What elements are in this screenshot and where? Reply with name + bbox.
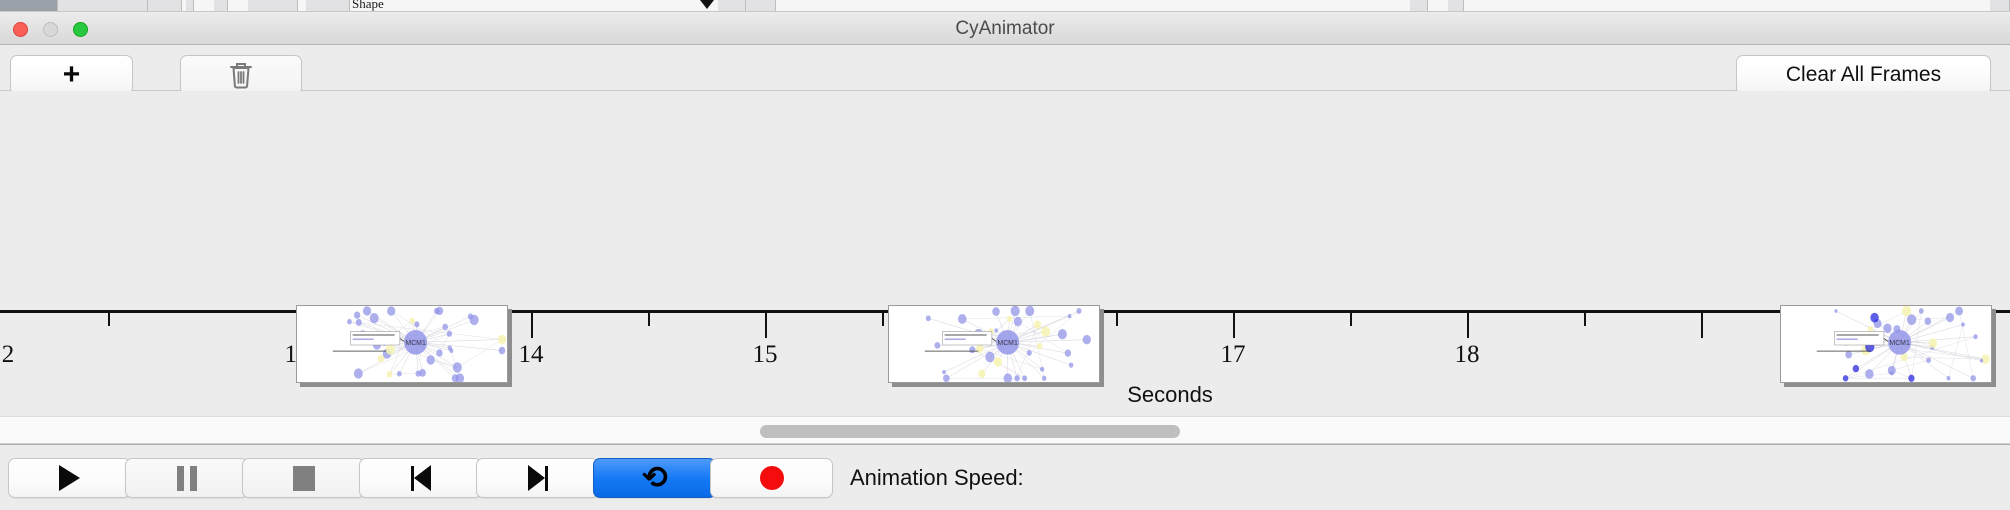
frame-thumbnail[interactable]: MCM1 bbox=[888, 305, 1100, 383]
network-graph: MCM1 bbox=[297, 306, 507, 383]
tick-minor bbox=[648, 313, 650, 326]
frame-thumbnail[interactable]: MCM1 bbox=[296, 305, 508, 383]
transport-bar: ⟳ Animation Speed: bbox=[0, 444, 2010, 510]
horizontal-scrollbar[interactable] bbox=[0, 416, 2010, 444]
add-frame-button[interactable]: + bbox=[10, 55, 133, 95]
loop-button[interactable]: ⟳ bbox=[593, 458, 716, 498]
network-graph: MCM1 bbox=[1781, 306, 1991, 383]
tick-minor bbox=[1350, 313, 1352, 326]
tick-label: 14 bbox=[519, 341, 544, 369]
bg-chip bbox=[306, 0, 350, 12]
play-icon bbox=[59, 465, 80, 491]
svg-text:MCM1: MCM1 bbox=[1889, 340, 1910, 347]
record-icon bbox=[760, 466, 784, 490]
bg-chip bbox=[746, 0, 776, 12]
tick-minor bbox=[1116, 313, 1118, 326]
animation-speed-label: Animation Speed: bbox=[850, 458, 1024, 498]
background-word: Shape bbox=[352, 0, 384, 12]
plus-icon: + bbox=[63, 60, 81, 90]
network-graph: MCM1 bbox=[889, 306, 1099, 383]
skip-forward-icon bbox=[528, 465, 548, 491]
prev-frame-button[interactable] bbox=[359, 458, 482, 498]
pause-icon bbox=[177, 466, 197, 491]
tick-minor bbox=[108, 313, 110, 326]
tick-major bbox=[765, 313, 767, 338]
record-button[interactable] bbox=[710, 458, 833, 498]
stop-icon bbox=[293, 466, 315, 491]
pause-button[interactable] bbox=[125, 458, 248, 498]
axis-title-label: Seconds bbox=[1127, 382, 1213, 407]
timeline-panel[interactable]: 2131415161718 Seconds MCM1MCM1MCM1 bbox=[0, 91, 2010, 416]
toolbar: + Clear All Frames bbox=[0, 45, 2010, 91]
bg-chip bbox=[1990, 0, 2010, 12]
tick-minor bbox=[882, 313, 884, 326]
next-frame-button[interactable] bbox=[476, 458, 599, 498]
bg-chip bbox=[58, 0, 148, 12]
tick-major bbox=[1701, 313, 1703, 338]
cyanimator-window: Shape CyAnimator + Clear All Frames bbox=[0, 0, 2010, 510]
scrollbar-thumb[interactable] bbox=[760, 425, 1180, 438]
tick-label: 2 bbox=[2, 341, 15, 369]
svg-text:MCM1: MCM1 bbox=[997, 340, 1018, 347]
title-bar: CyAnimator bbox=[0, 12, 2010, 45]
trash-icon bbox=[228, 60, 254, 90]
bg-chip bbox=[1448, 0, 1464, 12]
skip-back-icon bbox=[411, 465, 431, 491]
svg-text:MCM1: MCM1 bbox=[405, 340, 426, 347]
bg-chip bbox=[1410, 0, 1428, 12]
tick-major bbox=[531, 313, 533, 338]
tick-major bbox=[1467, 313, 1469, 338]
frame-thumbnail[interactable]: MCM1 bbox=[1780, 305, 1992, 383]
tick-label: 15 bbox=[753, 341, 778, 369]
clear-all-frames-button[interactable]: Clear All Frames bbox=[1736, 55, 1991, 95]
background-app-strip: Shape bbox=[0, 0, 2010, 12]
bg-chip bbox=[214, 0, 228, 12]
delete-frame-button[interactable] bbox=[180, 55, 302, 95]
tick-label: 18 bbox=[1455, 341, 1480, 369]
bg-chip bbox=[186, 0, 194, 12]
bg-wedge bbox=[700, 0, 714, 9]
window-title: CyAnimator bbox=[0, 12, 2010, 45]
bg-chip bbox=[718, 0, 746, 12]
clear-all-frames-label: Clear All Frames bbox=[1786, 63, 1941, 87]
tick-minor bbox=[1584, 313, 1586, 326]
axis-title: Seconds bbox=[0, 382, 2010, 408]
bg-chip bbox=[248, 0, 298, 12]
stop-button[interactable] bbox=[242, 458, 365, 498]
loop-icon: ⟳ bbox=[642, 463, 668, 494]
bg-chip bbox=[0, 0, 58, 12]
tick-label: 17 bbox=[1221, 341, 1246, 369]
tick-major bbox=[1233, 313, 1235, 338]
play-button[interactable] bbox=[8, 458, 131, 498]
bg-chip bbox=[148, 0, 182, 12]
